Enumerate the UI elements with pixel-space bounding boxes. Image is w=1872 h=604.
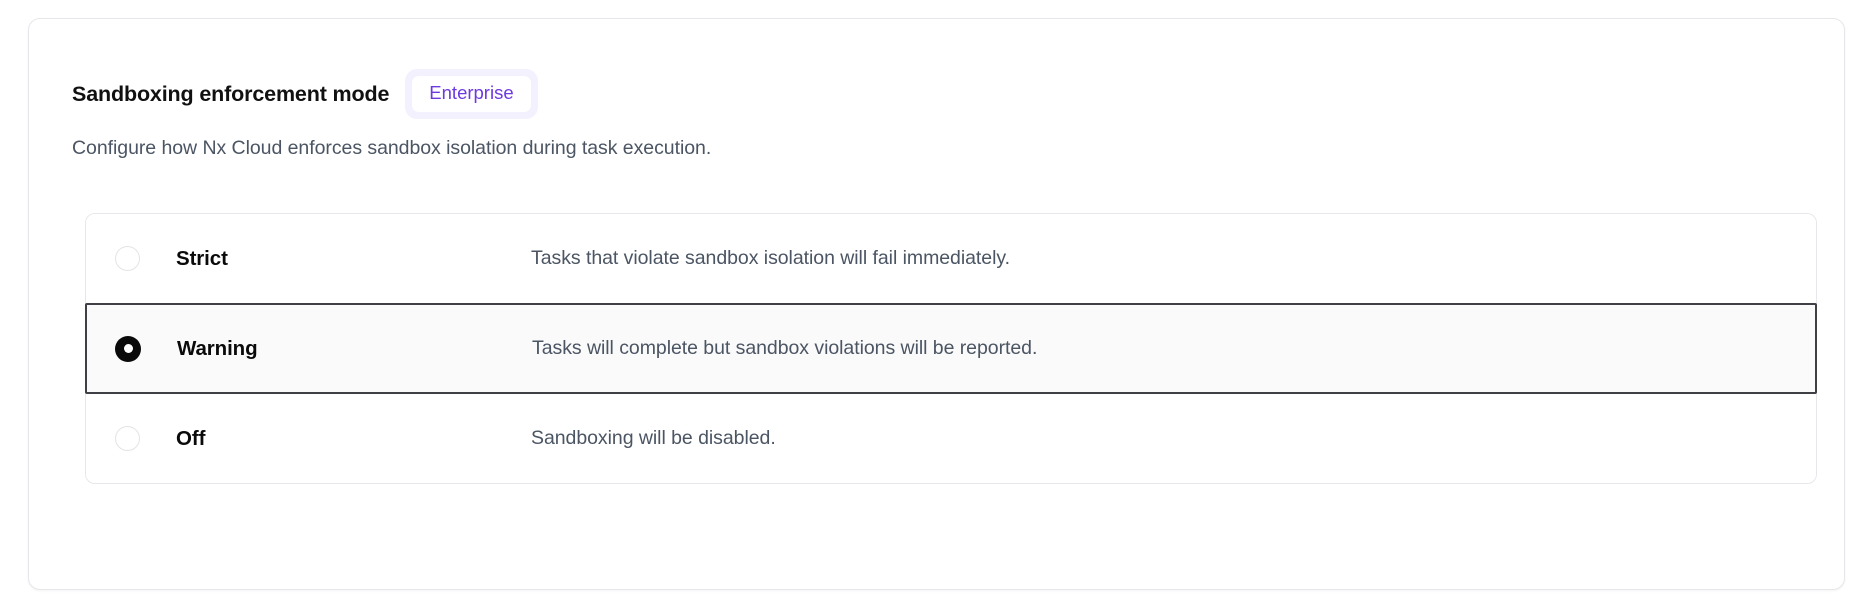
- status-badge: Enterprise: [412, 76, 530, 111]
- radio-description-off: Sandboxing will be disabled.: [531, 427, 776, 450]
- section-header: Sandboxing enforcement mode Enterprise: [72, 67, 538, 121]
- radio-label-off: Off: [176, 427, 531, 451]
- sandboxing-settings-card: Sandboxing enforcement mode Enterprise C…: [28, 18, 1845, 590]
- enterprise-badge-ring: Enterprise: [405, 69, 537, 118]
- radio-option-strict[interactable]: Strict Tasks that violate sandbox isolat…: [86, 214, 1816, 303]
- radio-description-strict: Tasks that violate sandbox isolation wil…: [531, 247, 1010, 270]
- radio-icon-strict[interactable]: [115, 246, 140, 271]
- page-title: Sandboxing enforcement mode: [72, 82, 389, 107]
- radio-label-strict: Strict: [176, 247, 531, 271]
- radio-option-off[interactable]: Off Sandboxing will be disabled.: [86, 394, 1816, 483]
- radio-option-warning[interactable]: Warning Tasks will complete but sandbox …: [85, 303, 1817, 394]
- radio-label-warning: Warning: [177, 337, 532, 361]
- radio-icon-warning[interactable]: [115, 336, 141, 362]
- radio-description-warning: Tasks will complete but sandbox violatio…: [532, 337, 1037, 360]
- enforcement-mode-radio-group: Strict Tasks that violate sandbox isolat…: [85, 213, 1817, 484]
- radio-icon-off[interactable]: [115, 426, 140, 451]
- section-description: Configure how Nx Cloud enforces sandbox …: [72, 137, 711, 160]
